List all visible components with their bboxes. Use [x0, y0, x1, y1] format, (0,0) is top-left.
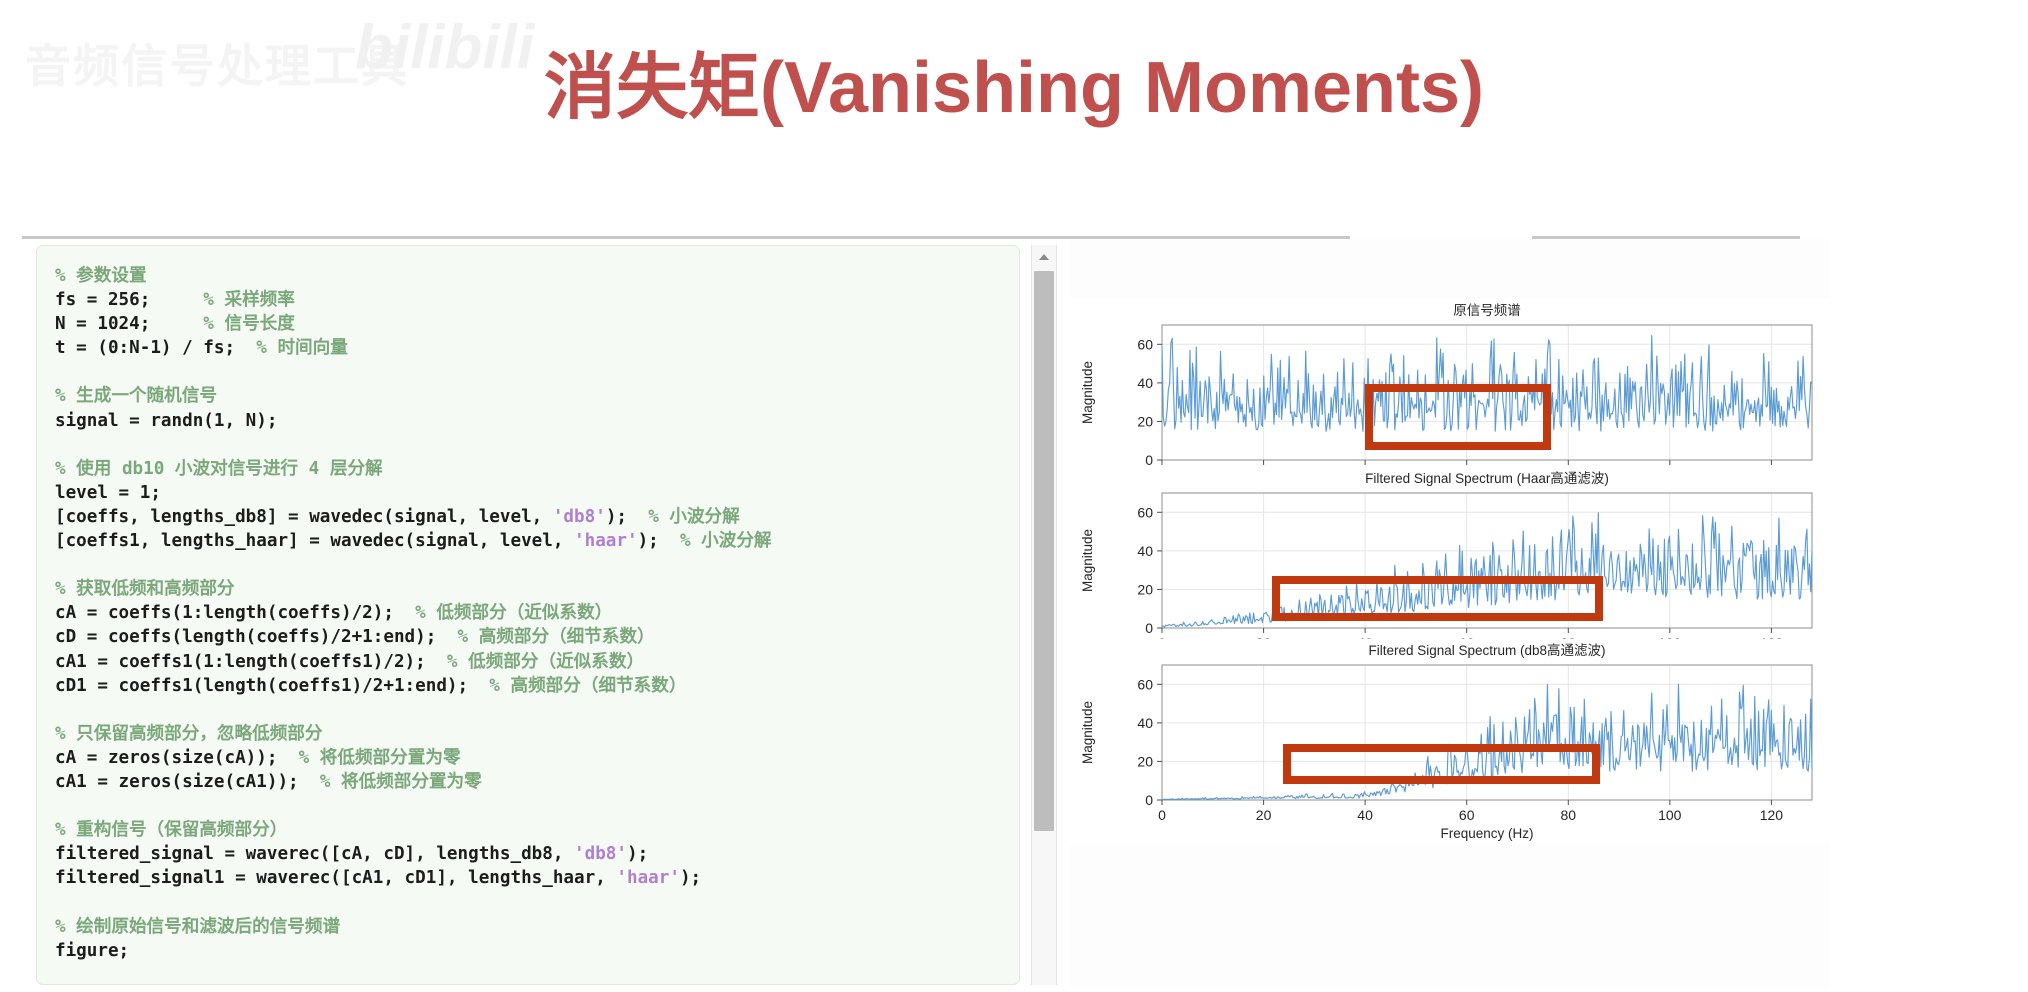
svg-text:60: 60: [1459, 807, 1475, 823]
svg-text:Filtered Signal Spectrum (Haar: Filtered Signal Spectrum (Haar高通滤波): [1365, 470, 1609, 486]
svg-text:40: 40: [1357, 807, 1373, 823]
svg-text:100: 100: [1658, 807, 1682, 823]
page-title: 消失矩(Vanishing Moments): [0, 28, 2028, 133]
svg-text:原信号频谱: 原信号频谱: [1453, 303, 1521, 318]
svg-text:80: 80: [1561, 807, 1577, 823]
matlab-code-block: % 参数设置 fs = 256; % 采样频率 N = 1024; % 信号长度…: [47, 264, 1019, 963]
svg-text:0: 0: [1145, 620, 1153, 636]
svg-text:Frequency (Hz): Frequency (Hz): [1440, 826, 1533, 841]
spectrum-plot-db8: 0204060801001200204060Filtered Signal Sp…: [1070, 639, 1830, 844]
svg-text:40: 40: [1137, 543, 1153, 559]
slide-content-area: % 参数设置 fs = 256; % 采样频率 N = 1024; % 信号长度…: [0, 236, 2028, 992]
matlab-figure-panel: 0204060801001200204060原信号频谱Frequency (Hz…: [1070, 239, 1830, 989]
svg-text:60: 60: [1137, 336, 1153, 352]
svg-text:Magnitude: Magnitude: [1080, 529, 1095, 592]
scrollbar-thumb[interactable]: [1034, 271, 1054, 831]
scroll-up-arrow-icon[interactable]: [1032, 245, 1056, 269]
svg-text:0: 0: [1145, 452, 1153, 468]
svg-text:40: 40: [1137, 715, 1153, 731]
svg-text:20: 20: [1137, 581, 1153, 597]
svg-text:Magnitude: Magnitude: [1080, 361, 1095, 424]
svg-text:0: 0: [1158, 807, 1166, 823]
svg-text:60: 60: [1137, 504, 1153, 520]
svg-text:20: 20: [1137, 753, 1153, 769]
svg-text:Magnitude: Magnitude: [1080, 701, 1095, 764]
svg-text:120: 120: [1760, 807, 1784, 823]
svg-text:0: 0: [1145, 792, 1153, 808]
svg-text:40: 40: [1137, 375, 1153, 391]
svg-text:20: 20: [1256, 807, 1272, 823]
code-panel-scrollbar[interactable]: [1031, 245, 1057, 985]
svg-text:60: 60: [1137, 676, 1153, 692]
matlab-code-panel[interactable]: % 参数设置 fs = 256; % 采样频率 N = 1024; % 信号长度…: [36, 245, 1020, 985]
svg-text:20: 20: [1137, 413, 1153, 429]
svg-text:Filtered Signal Spectrum (db8高: Filtered Signal Spectrum (db8高通滤波): [1368, 642, 1605, 658]
